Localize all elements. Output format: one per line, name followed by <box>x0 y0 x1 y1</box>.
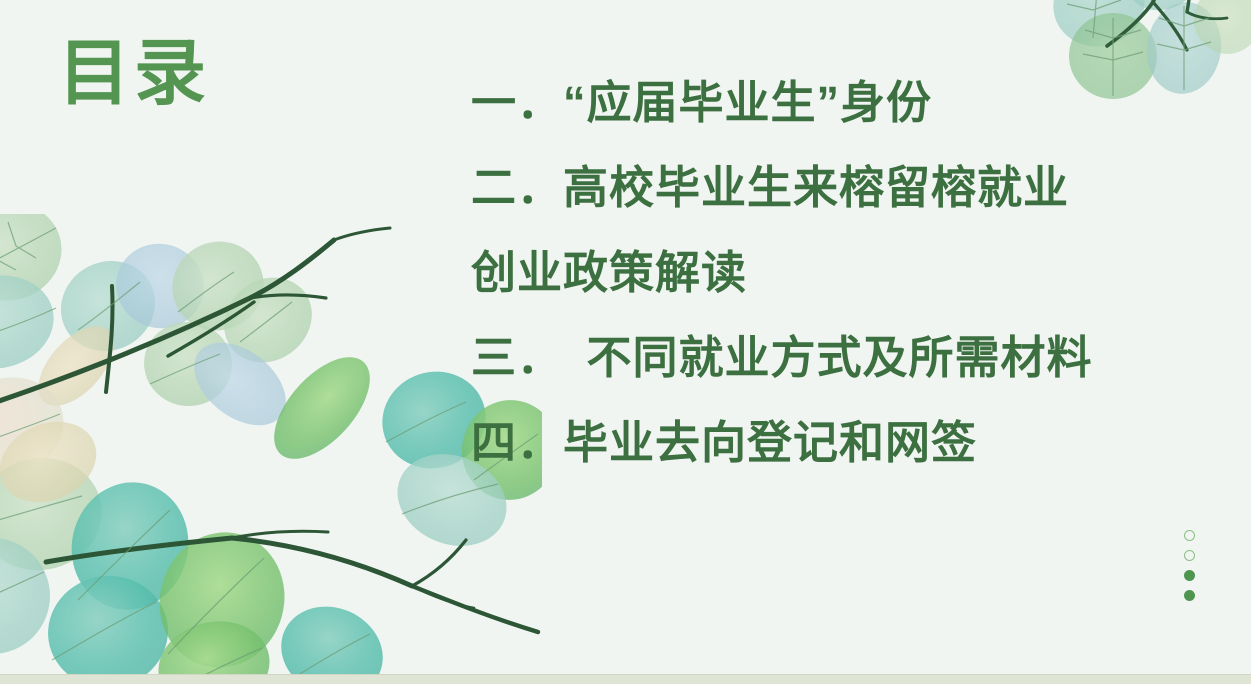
pagination-dot-2[interactable] <box>1184 550 1195 561</box>
toc-item-2[interactable]: 二．高校毕业生来榕留榕就业 <box>471 145 1171 230</box>
pagination-dot-1[interactable] <box>1184 530 1195 541</box>
toc-item-3[interactable]: 三． 不同就业方式及所需材料 <box>471 315 1171 400</box>
page-title: 目录 <box>58 38 210 110</box>
toc-item-2-continuation[interactable]: 创业政策解读 <box>471 230 1171 315</box>
pagination-dot-3[interactable] <box>1184 570 1195 581</box>
table-of-contents: 一．“应届毕业生”身份 二．高校毕业生来榕留榕就业 创业政策解读 三． 不同就业… <box>471 60 1171 485</box>
slide-canvas: 目录 一．“应届毕业生”身份 二．高校毕业生来榕留榕就业 创业政策解读 三． 不… <box>0 0 1251 684</box>
eucalyptus-bottom-left-icon <box>0 214 542 684</box>
toc-item-1[interactable]: 一．“应届毕业生”身份 <box>471 60 1171 145</box>
pagination-dot-4[interactable] <box>1184 590 1195 601</box>
bottom-band <box>0 674 1251 684</box>
toc-item-4[interactable]: 四．毕业去向登记和网签 <box>471 400 1171 485</box>
pagination-dots <box>1184 530 1195 601</box>
